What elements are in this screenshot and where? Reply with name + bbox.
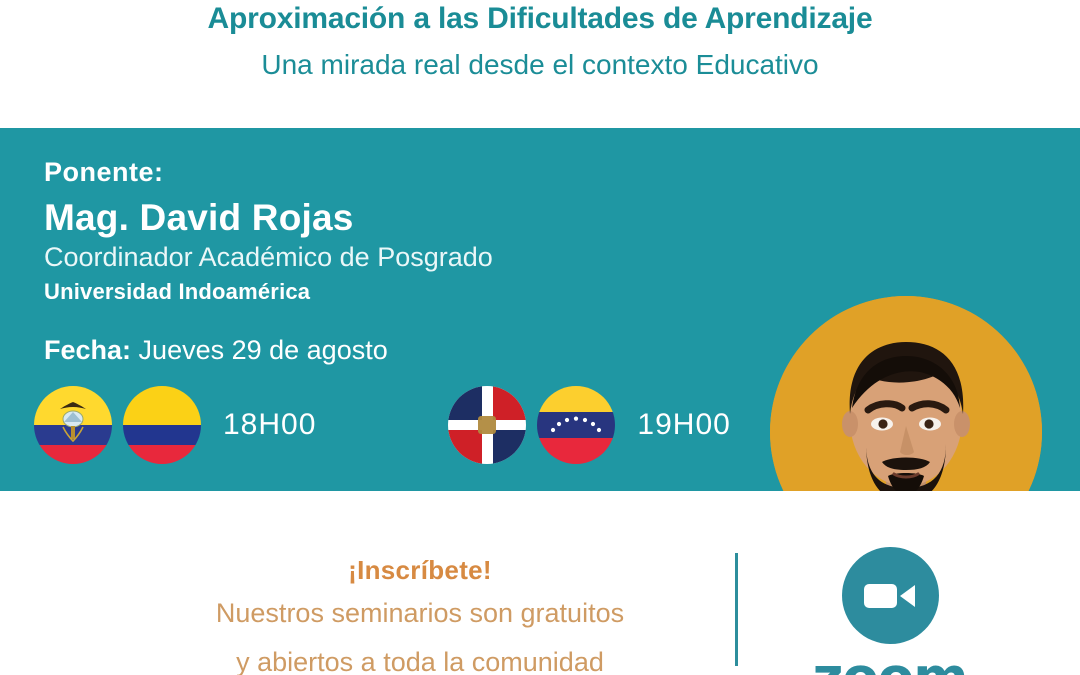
zoom-logo: zoom — [795, 547, 985, 675]
event-date: Fecha: Jueves 29 de agosto — [44, 334, 388, 367]
webinar-poster: Aproximación a las Dificultades de Apren… — [0, 0, 1080, 675]
speaker-name: Mag. David Rojas — [44, 196, 704, 240]
time-slot-2: 19H00 — [637, 408, 730, 442]
speaker-position: Coordinador Académico de Posgrado — [44, 241, 704, 274]
cta-line-1: Nuestros seminarios son gratuitos — [120, 593, 720, 634]
schedule-row: 18H00 — [34, 386, 731, 464]
venezuela-stars-icon — [537, 412, 615, 438]
cta-text-block: ¡Inscríbete! Nuestros seminarios son gra… — [120, 555, 720, 675]
speaker-band: Ponente: Mag. David Rojas Coordinador Ac… — [0, 128, 1080, 491]
page-title: Aproximación a las Dificultades de Apren… — [208, 2, 873, 36]
vertical-divider — [735, 553, 738, 666]
page-subtitle: Una mirada real desde el contexto Educat… — [261, 48, 818, 82]
dominican-republic-flag-icon — [448, 386, 526, 464]
date-value: Jueves 29 de agosto — [139, 335, 388, 365]
venezuela-flag-icon — [537, 386, 615, 464]
video-camera-icon — [863, 580, 917, 612]
zoom-circle-badge — [842, 547, 939, 644]
registration-section: ¡Inscríbete! Nuestros seminarios son gra… — [0, 491, 1080, 675]
zoom-wordmark: zoom — [795, 651, 985, 675]
ecuador-coat-of-arms-icon — [58, 400, 88, 444]
dominican-coat-of-arms-icon — [478, 416, 496, 434]
ecuador-flag-icon — [34, 386, 112, 464]
speaker-organization: Universidad Indoamérica — [44, 278, 704, 306]
time-slot-1: 18H00 — [223, 408, 316, 442]
speaker-role-label: Ponente: — [44, 156, 704, 188]
cta-title: ¡Inscríbete! — [120, 555, 720, 585]
date-label: Fecha: — [44, 335, 131, 365]
colombia-flag-icon — [123, 386, 201, 464]
poster-header: Aproximación a las Dificultades de Apren… — [0, 0, 1080, 128]
cta-line-2: y abiertos a toda la comunidad — [120, 642, 720, 675]
speaker-info: Ponente: Mag. David Rojas Coordinador Ac… — [44, 156, 704, 306]
